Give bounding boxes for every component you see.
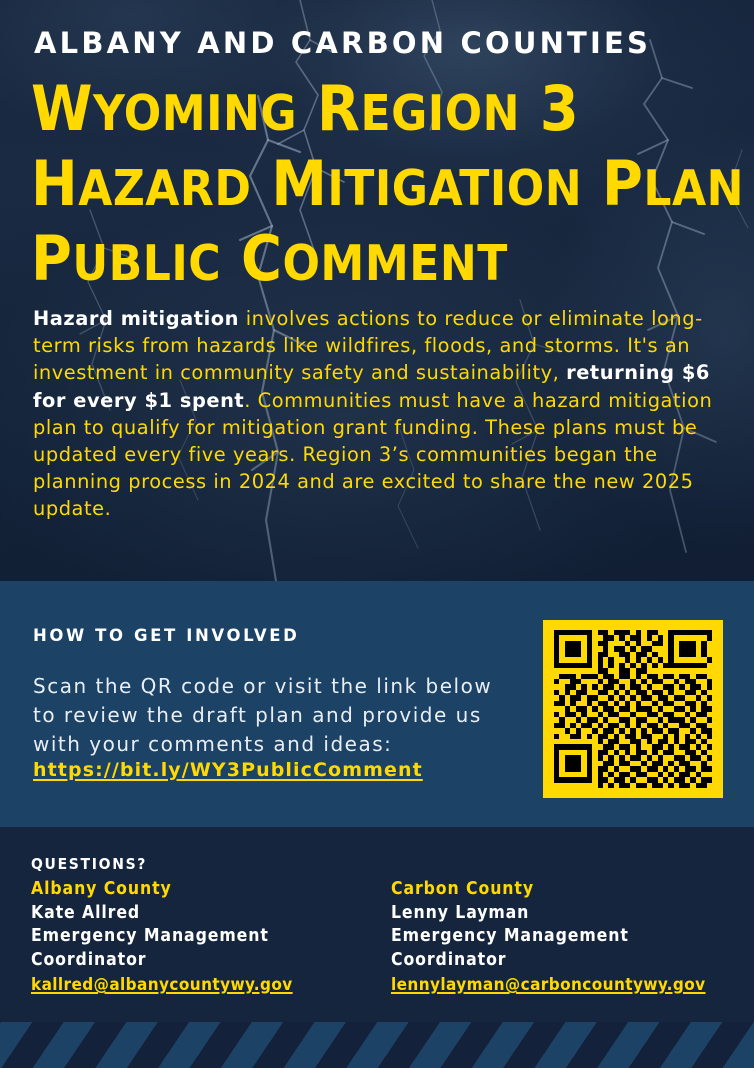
poster-root: ALBANY AND CARBON COUNTIES WYOMING REGIO… — [0, 0, 754, 1068]
contact-title-line-2: Coordinator — [31, 949, 361, 973]
contact-county: Albany County — [31, 878, 361, 902]
contact-title-line-1: Emergency Management — [31, 925, 361, 949]
get-involved-copy: Scan the QR code or visit the link below… — [33, 672, 523, 759]
contact-county: Carbon County — [391, 878, 721, 902]
headline-line-1: WYOMING REGION 3 — [31, 74, 731, 149]
eyebrow-counties: ALBANY AND CARBON COUNTIES — [34, 26, 651, 60]
diagonal-stripe-footer — [0, 1022, 754, 1068]
questions-label: QUESTIONS? — [31, 855, 147, 873]
contact-card-carbon: Carbon County Lenny Layman Emergency Man… — [391, 878, 721, 998]
contacts-list: Albany County Kate Allred Emergency Mana… — [31, 878, 731, 998]
contact-email-link[interactable]: kallred@albanycountywy.gov — [31, 974, 293, 998]
page-title: WYOMING REGION 3 HAZARD MITIGATION PLAN … — [31, 74, 731, 299]
qr-code[interactable] — [543, 620, 723, 798]
headline-line-3: PUBLIC COMMENT — [31, 224, 731, 299]
qr-code-matrix — [554, 630, 712, 788]
contact-name: Kate Allred — [31, 902, 361, 926]
get-involved-heading: HOW TO GET INVOLVED — [33, 626, 299, 645]
body-paragraph: Hazard mitigation involves actions to re… — [33, 305, 730, 523]
contact-name: Lenny Layman — [391, 902, 721, 926]
contact-title-line-1: Emergency Management — [391, 925, 721, 949]
public-comment-link[interactable]: https://bit.ly/WY3PublicComment — [33, 759, 423, 781]
contact-title-line-2: Coordinator — [391, 949, 721, 973]
headline-line-2: HAZARD MITIGATION PLAN — [31, 149, 731, 224]
contact-card-albany: Albany County Kate Allred Emergency Mana… — [31, 878, 361, 998]
contact-email-link[interactable]: lennylayman@carboncountywy.gov — [391, 974, 706, 998]
